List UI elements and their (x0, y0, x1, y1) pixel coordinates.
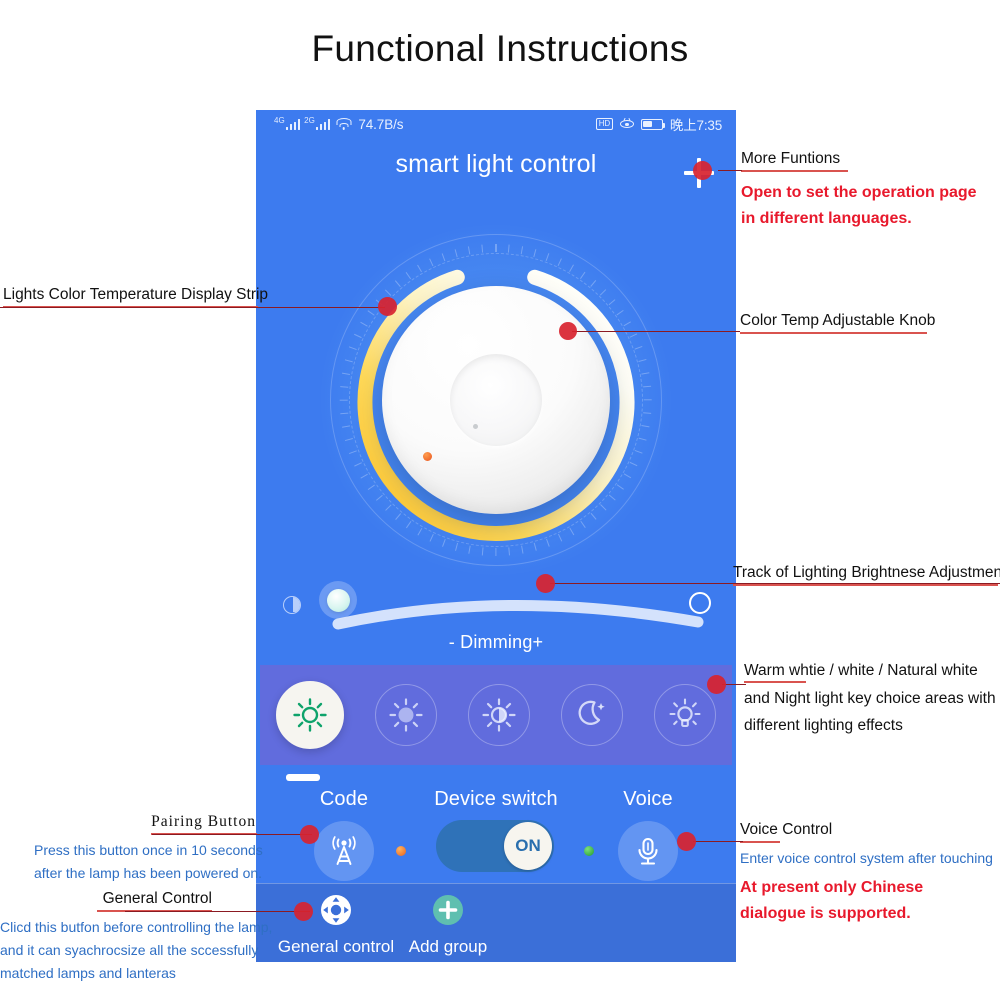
annotation-light-modes-line2: and Night light key choice areas with (744, 690, 996, 708)
status-led-orange (396, 846, 406, 856)
eye-icon (620, 119, 634, 130)
device-switch-label: Device switch (424, 788, 568, 811)
controls-row: Code Device switch Voice ON (256, 788, 736, 888)
status-led-green (584, 846, 594, 856)
annotation-display-strip-title: Lights Color Temperature Display Strip (3, 286, 268, 304)
status-clock: 晚上7:35 (670, 114, 722, 134)
marker-light-modes (707, 675, 726, 694)
annotation-general-control-line1: Clicd this butfon before controlling the… (0, 916, 272, 939)
pairing-antenna-icon (327, 834, 361, 868)
leader-line-general-control (125, 911, 310, 912)
annotation-pairing-button-line2: after the lamp has been powered on. (34, 862, 263, 885)
knob-body[interactable] (382, 286, 610, 514)
marker-general-control (294, 902, 313, 921)
marker-pairing-button (300, 825, 319, 844)
marker-voice-control (677, 832, 696, 851)
annotation-more-functions-line2: in different languages. (741, 206, 977, 232)
status-bar-left: 4G 2G 74.7B/s (274, 117, 403, 132)
knob-indicator-led (423, 452, 432, 461)
page-title: Functional Instructions (0, 28, 1000, 70)
nav-general-control[interactable]: General control (276, 892, 396, 957)
leader-line-more-functions (718, 170, 742, 171)
underline (741, 170, 848, 172)
annotation-brightness-track-title: Track of Lighting Brightnese Adjustment (733, 564, 1000, 582)
annotation-general-control-line2: and it can syachrocsize all the sccessfu… (0, 939, 272, 962)
half-brightness-icon (283, 596, 301, 614)
annotation-voice-control-title: Voice Control (740, 821, 993, 839)
full-brightness-icon (689, 592, 711, 614)
sun-half-icon (482, 698, 516, 732)
knob-marker-dot (473, 424, 478, 429)
hd-icon: HD (596, 118, 613, 130)
annotation-pairing-button-title: Pairing Button (34, 813, 256, 831)
annotation-more-functions-line1: Open to set the operation page (741, 180, 977, 206)
annotation-general-control-title: General Control (0, 890, 212, 908)
annotation-more-functions: More Funtions Open to set the operation … (741, 150, 977, 232)
annotation-voice-control: Voice Control Enter voice control system… (740, 821, 993, 927)
annotation-display-strip: Lights Color Temperature Display Strip (3, 286, 268, 308)
brightness-slider[interactable]: - Dimming+ (256, 582, 736, 672)
nav-add-group[interactable]: Add group (388, 892, 508, 957)
annotation-more-functions-title: More Funtions (741, 150, 977, 168)
voice-button[interactable] (618, 821, 678, 881)
annotation-light-modes: Warm whtie / white / Natural white and N… (744, 662, 996, 735)
annotation-light-modes-line1: Warm whtie / white / Natural white (744, 662, 996, 680)
mode-white[interactable] (375, 684, 437, 746)
annotation-general-control: General Control Clicd this butfon before… (0, 890, 272, 985)
annotation-pairing-button: Pairing Button Press this button once in… (34, 813, 263, 885)
wifi-icon (336, 118, 351, 130)
phone-screen: 4G 2G 74.7B/s HD 晚上7:35 smart light cont… (256, 110, 736, 962)
pairing-button[interactable] (314, 821, 374, 881)
color-temperature-dial[interactable] (256, 200, 736, 600)
annotation-voice-control-blue: Enter voice control system after touchin… (740, 847, 993, 870)
mode-bulb[interactable] (654, 684, 716, 746)
status-bar-right: HD 晚上7:35 (596, 114, 722, 134)
annotation-voice-control-red2: dialogue is supported. (740, 901, 993, 927)
underline (744, 681, 806, 683)
signal-icon: 4G (274, 119, 300, 130)
code-label: Code (272, 788, 416, 811)
mode-night-light[interactable] (561, 684, 623, 746)
bulb-icon (668, 698, 702, 732)
leader-line-brightness-track (550, 583, 1000, 584)
marker-more-functions (693, 161, 712, 180)
leader-line-color-temp-knob (572, 331, 740, 332)
annotation-light-modes-line3: different lighting effects (744, 717, 996, 735)
underline (740, 841, 780, 843)
marker-brightness-track (536, 574, 555, 593)
annotation-voice-control-red1: At present only Chinese (740, 875, 993, 901)
annotation-pairing-button-line1: Press this button once in 10 seconds (34, 839, 263, 862)
annotation-color-temp-knob: Color Temp Adjustable Knob (740, 312, 935, 334)
network-type-2: 2G (304, 117, 315, 125)
annotation-color-temp-knob-title: Color Temp Adjustable Knob (740, 312, 935, 330)
nav-add-group-label: Add group (388, 937, 508, 957)
leader-line-voice-control (693, 841, 743, 842)
app-title: smart light control (256, 150, 736, 179)
annotation-general-control-line3: matched lamps and lanteras (0, 962, 272, 985)
leader-line-pairing-button (152, 834, 312, 835)
dimming-label: - Dimming+ (256, 632, 736, 653)
status-bar: 4G 2G 74.7B/s HD 晚上7:35 (256, 110, 736, 138)
sun-filled-icon (389, 698, 423, 732)
mode-natural-white[interactable] (468, 684, 530, 746)
battery-icon (641, 119, 663, 130)
knob-center[interactable] (450, 354, 542, 446)
home-indicator (286, 774, 320, 781)
nav-general-control-label: General control (276, 937, 396, 957)
toggle-knob[interactable]: ON (504, 822, 552, 870)
underline (740, 332, 927, 334)
light-mode-bar (260, 665, 732, 765)
mode-warm-white[interactable] (276, 681, 344, 749)
marker-color-temp-knob (559, 322, 577, 340)
network-speed: 74.7B/s (358, 117, 403, 132)
dpad-icon (318, 892, 354, 928)
marker-display-strip (378, 297, 397, 316)
signal-icon: 2G (304, 119, 330, 130)
moon-star-icon (574, 697, 610, 733)
microphone-icon (632, 835, 664, 867)
plus-circle-icon (430, 892, 466, 928)
leader-line-display-strip (0, 307, 385, 308)
voice-label: Voice (576, 788, 720, 811)
dimming-handle[interactable] (319, 581, 357, 619)
device-switch-toggle[interactable]: ON (436, 820, 554, 872)
sun-outline-icon (293, 698, 327, 732)
bottom-nav: General control Add group (256, 883, 736, 962)
network-type-1: 4G (274, 117, 285, 125)
